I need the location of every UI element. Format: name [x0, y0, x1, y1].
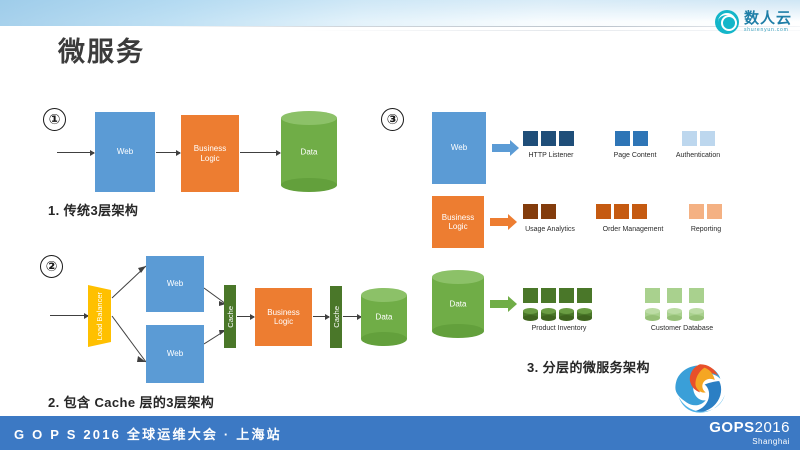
service-tile: [667, 288, 682, 303]
service-group-label-product-inventory: Product Inventory: [518, 325, 600, 332]
tier-data-3: Data: [432, 270, 484, 338]
service-tile: [541, 131, 556, 146]
shurenyun-cloud-icon: [715, 10, 739, 34]
cylinder-top: [361, 288, 407, 302]
service-tile: [523, 204, 538, 219]
arrow-web-tier-3: [492, 140, 519, 156]
node-cache-2-front: Cache: [224, 285, 236, 348]
node-cache-2-back-label: Cache: [332, 306, 341, 328]
footer-gops-name: GOPS: [709, 419, 754, 436]
db-tile: [645, 308, 660, 321]
caption-2: 2. 包含 Cache 层的3层架构: [48, 392, 214, 411]
node-cache-2-front-label: Cache: [226, 306, 235, 328]
top-hairline: [140, 26, 800, 27]
node-web-2-top: Web: [146, 256, 204, 312]
db-tile-top: [689, 308, 704, 314]
service-tile: [541, 204, 556, 219]
db-tile: [577, 308, 592, 321]
service-group-label-reporting: Reporting: [675, 226, 737, 233]
db-tile: [559, 308, 574, 321]
slide-canvas: 数人云 shurenyun.com 微服务 ① Web Business Log…: [0, 0, 800, 450]
service-group-label-page-content: Page Content: [604, 152, 666, 159]
node-data-2-label: Data: [361, 313, 407, 322]
tier-business-logic-3: Business Logic: [432, 196, 484, 248]
db-tile-bottom: [577, 315, 592, 321]
db-tile-bottom: [559, 315, 574, 321]
db-tile-bottom: [523, 315, 538, 321]
footer-bar: G O P S 2016 全球运维大会 · 上海站 GOPS2016 Shang…: [0, 416, 800, 450]
node-data-2: Data: [361, 288, 407, 346]
caption-3: 3. 分层的微服务架构: [527, 357, 650, 376]
cylinder-bottom: [281, 178, 337, 192]
tier-data-3-label: Data: [432, 300, 484, 309]
node-cache-2-back: Cache: [330, 286, 342, 348]
section-marker-2: ②: [40, 255, 63, 278]
db-tile: [689, 308, 704, 321]
footer-gops-wordmark: GOPS2016 Shanghai: [709, 420, 790, 446]
service-tile: [559, 131, 574, 146]
service-group-label-customer-database: Customer Database: [637, 325, 727, 332]
node-web-2-bottom: Web: [146, 325, 204, 383]
page-title: 微服务: [58, 30, 145, 69]
service-tile: [596, 204, 611, 219]
service-tile: [682, 131, 697, 146]
arrow-cache-to-bl-2: [237, 316, 254, 317]
connectors-lb-to-web: [110, 258, 150, 374]
node-data-1-label: Data: [281, 147, 337, 156]
section-marker-1: ①: [43, 108, 66, 131]
node-business-logic-2: Business Logic: [255, 288, 312, 346]
db-tile: [667, 308, 682, 321]
tier-web-3: Web: [432, 112, 486, 184]
node-business-logic-1: Business Logic: [181, 115, 239, 192]
db-tile-top: [645, 308, 660, 314]
service-tile: [645, 288, 660, 303]
service-group-label-http-listener: HTTP Listener: [520, 152, 582, 159]
brand-url: shurenyun.com: [744, 28, 792, 33]
node-load-balancer-2: Load Balancer: [88, 285, 111, 347]
service-tile: [523, 131, 538, 146]
service-tile: [689, 288, 704, 303]
db-tile: [523, 308, 538, 321]
service-tile: [707, 204, 722, 219]
service-tile: [541, 288, 556, 303]
node-load-balancer-2-label: Load Balancer: [95, 292, 104, 340]
arrow-cache-to-data-2: [343, 316, 361, 317]
service-group-label-order-management: Order Management: [589, 226, 677, 233]
service-tile: [614, 204, 629, 219]
node-web-1: Web: [95, 112, 155, 192]
service-group-label-usage-analytics: Usage Analytics: [513, 226, 587, 233]
service-tile: [523, 288, 538, 303]
arrow-head: [510, 140, 519, 156]
brand-logo: 数人云 shurenyun.com: [715, 10, 792, 34]
brand-text: 数人云 shurenyun.com: [744, 11, 792, 33]
service-tile: [633, 131, 648, 146]
arrow-bl-to-data-1: [240, 152, 280, 153]
arrow-in-lb-2: [50, 315, 88, 316]
node-data-1: Data: [281, 111, 337, 192]
footer-gops-city: Shanghai: [752, 438, 790, 446]
cylinder-bottom: [432, 324, 484, 338]
arrow-bl-to-cache2-2: [313, 316, 329, 317]
cylinder-bottom: [361, 332, 407, 346]
gops-logo-icon: [670, 362, 728, 416]
service-tile: [689, 204, 704, 219]
db-tile-bottom: [689, 315, 704, 321]
service-tile: [615, 131, 630, 146]
footer-event-text: G O P S 2016 全球运维大会 · 上海站: [14, 424, 282, 443]
db-tile-top: [559, 308, 574, 314]
db-tile-top: [667, 308, 682, 314]
arrow-shaft: [490, 300, 508, 308]
service-tile: [632, 204, 647, 219]
db-tile-top: [541, 308, 556, 314]
db-tile-bottom: [541, 315, 556, 321]
service-group-label-authentication: Authentication: [662, 152, 734, 159]
service-tile: [700, 131, 715, 146]
brand-name: 数人云: [744, 11, 792, 26]
cylinder-top: [432, 270, 484, 284]
service-tile: [559, 288, 574, 303]
arrow-in-web-1: [57, 152, 94, 153]
footer-gops-year: 2016: [755, 419, 790, 436]
arrow-data-tier-3: [490, 296, 517, 312]
caption-1: 1. 传统3层架构: [48, 200, 138, 219]
db-tile-top: [577, 308, 592, 314]
service-tile: [577, 288, 592, 303]
arrow-shaft: [490, 218, 508, 226]
section-marker-3: ③: [381, 108, 404, 131]
arrow-web-to-bl-1: [156, 152, 180, 153]
arrow-shaft: [492, 144, 510, 152]
db-tile-bottom: [667, 315, 682, 321]
db-tile-bottom: [645, 315, 660, 321]
footer-gops-line: GOPS2016: [709, 420, 790, 435]
top-band-swoosh: [0, 0, 800, 26]
db-tile: [541, 308, 556, 321]
db-tile-top: [523, 308, 538, 314]
arrow-head: [508, 296, 517, 312]
cylinder-top: [281, 111, 337, 125]
